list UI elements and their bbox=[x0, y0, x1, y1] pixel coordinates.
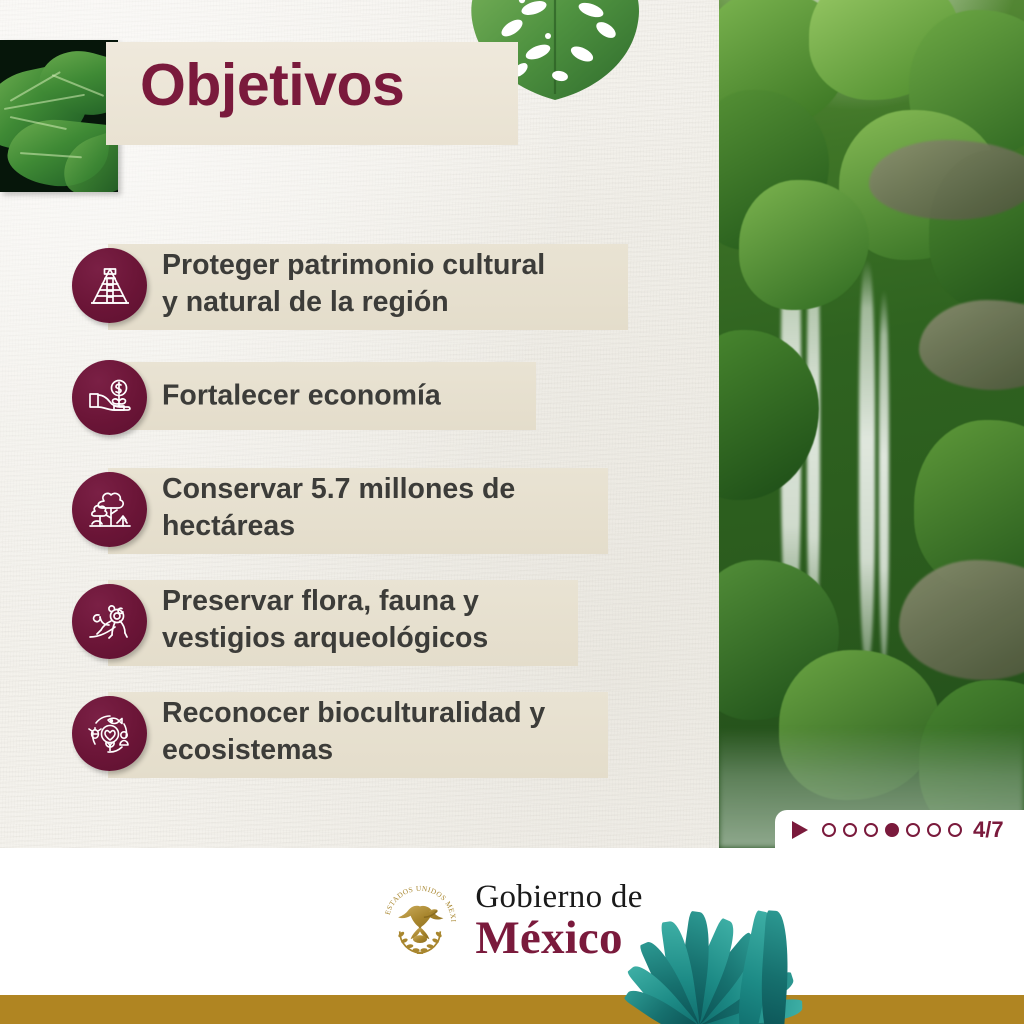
list-item[interactable]: Preservar flora, fauna y vestigios arque… bbox=[0, 572, 700, 668]
slide-canvas: Objetivos Proteger patrimonio cultural y… bbox=[0, 0, 1024, 1024]
gobierno-de-mexico-logo: ESTADOS UNIDOS MEXICANOS bbox=[381, 881, 642, 962]
list-item-label: Fortalecer economía bbox=[162, 377, 441, 414]
carousel-dot[interactable] bbox=[822, 823, 836, 837]
list-item[interactable]: Reconocer bioculturalidad y ecosistemas bbox=[0, 684, 700, 780]
list-item[interactable]: Proteger patrimonio cultural y natural d… bbox=[0, 236, 700, 332]
monkey-icon bbox=[72, 584, 147, 659]
tropical-leaf-photo bbox=[0, 40, 118, 192]
carousel-counter: 4/7 bbox=[973, 817, 1004, 843]
carousel-dot[interactable] bbox=[906, 823, 920, 837]
carousel-dot-active[interactable] bbox=[885, 823, 899, 837]
mexican-coat-of-arms-seal: ESTADOS UNIDOS MEXICANOS bbox=[381, 883, 459, 961]
carousel-dot[interactable] bbox=[927, 823, 941, 837]
carousel-indicator[interactable]: 4/7 bbox=[775, 810, 1024, 850]
list-item-label: Conservar 5.7 millones de hectáreas bbox=[162, 471, 515, 545]
objectives-list: Proteger patrimonio cultural y natural d… bbox=[0, 236, 700, 796]
list-item-label: Proteger patrimonio cultural y natural d… bbox=[162, 247, 545, 321]
gold-bottom-bar bbox=[0, 995, 1024, 1024]
play-icon[interactable] bbox=[792, 821, 808, 839]
carousel-dot[interactable] bbox=[864, 823, 878, 837]
carousel-dot[interactable] bbox=[843, 823, 857, 837]
carousel-dot[interactable] bbox=[948, 823, 962, 837]
pyramid-icon bbox=[72, 248, 147, 323]
list-item-label: Preservar flora, fauna y vestigios arque… bbox=[162, 583, 488, 657]
teal-palm-frond-decoration bbox=[605, 855, 820, 1024]
bioculturality-icon bbox=[72, 696, 147, 771]
list-item[interactable]: Fortalecer economía bbox=[0, 348, 700, 444]
hand-money-icon bbox=[72, 360, 147, 435]
jungle-waterfall-photo bbox=[719, 0, 1024, 848]
list-item[interactable]: Conservar 5.7 millones de hectáreas bbox=[0, 460, 700, 556]
carousel-dots[interactable] bbox=[822, 823, 962, 837]
list-item-label: Reconocer bioculturalidad y ecosistemas bbox=[162, 695, 545, 769]
page-title: Objetivos bbox=[140, 56, 404, 115]
forest-tree-icon bbox=[72, 472, 147, 547]
footer: ESTADOS UNIDOS MEXICANOS bbox=[0, 848, 1024, 995]
